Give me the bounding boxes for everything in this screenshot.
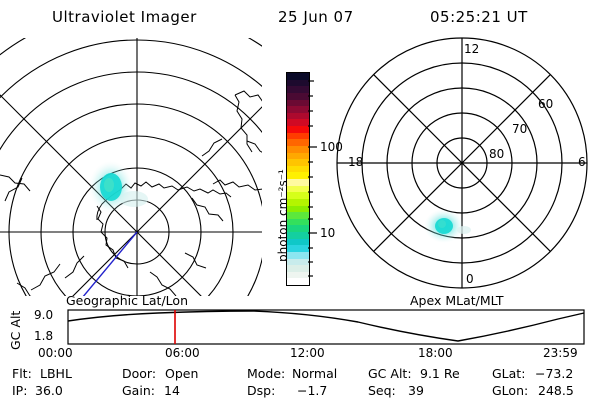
mlat-ring-label-60: 60 (538, 97, 553, 111)
colorbar-segment-1 (287, 80, 309, 87)
mlt-label-6: 6 (578, 155, 586, 169)
status-gain-label: Gain: (122, 383, 155, 398)
status-gcalt-value: 9.1 Re (420, 366, 460, 381)
colorbar-segment-9 (287, 133, 309, 140)
apex-mlt-dial-panel[interactable] (330, 38, 600, 296)
colorbar-segment-2 (287, 86, 309, 93)
mlt-spokes (337, 38, 587, 288)
left-panel-title: Geographic Lat/Lon (66, 293, 188, 308)
mlt-label-18: 18 (348, 155, 363, 169)
colorbar-segment-28 (287, 259, 309, 266)
mlt-label-12: 12 (464, 42, 479, 56)
intensity-colorbar[interactable] (286, 72, 310, 286)
colorbar-segment-19 (287, 199, 309, 206)
altitude-curve (68, 311, 584, 341)
colorbar-segment-22 (287, 219, 309, 226)
status-gain-value: 14 (164, 383, 180, 398)
colorbar-segment-17 (287, 186, 309, 193)
colorbar-segment-4 (287, 100, 309, 107)
orbit-xtick-1: 06:00 (165, 346, 200, 360)
colorbar-segment-13 (287, 159, 309, 166)
aurora-emission-left (89, 161, 148, 213)
ground-track-line (82, 232, 137, 298)
colorbar-segment-14 (287, 166, 309, 173)
orbit-xtick-2: 12:00 (290, 346, 325, 360)
colorbar-segment-26 (287, 245, 309, 252)
colorbar-segment-24 (287, 232, 309, 239)
orbit-altitude-plot[interactable] (68, 310, 584, 344)
status-ip-value: 36.0 (35, 383, 63, 398)
status-flt-label: Flt: (12, 366, 32, 381)
colorbar-segment-29 (287, 265, 309, 272)
orbit-plot-frame (68, 310, 584, 344)
colorbar-segment-10 (287, 139, 309, 146)
colorbar-segment-30 (287, 272, 309, 279)
status-glat-value: −73.2 (535, 366, 573, 381)
right-panel-title: Apex MLat/MLT (410, 293, 504, 308)
orbit-ytick-high: 9.0 (34, 308, 53, 322)
colorbar-segment-0 (287, 73, 309, 80)
orbit-xtick-0: 00:00 (38, 346, 73, 360)
mlat-ring-label-70: 70 (512, 122, 527, 136)
mlt-label-0: 0 (466, 272, 474, 286)
status-door-value: Open (165, 366, 198, 381)
orbit-y-axis-label: GC Alt (8, 311, 23, 350)
instrument-title: Ultraviolet Imager (52, 8, 197, 26)
observation-date: 25 Jun 07 (278, 8, 354, 26)
colorbar-segment-7 (287, 119, 309, 126)
colorbar-segment-5 (287, 106, 309, 113)
status-seq-label: Seq: (368, 383, 396, 398)
colorbar-segment-23 (287, 225, 309, 232)
observation-time: 05:25:21 UT (430, 8, 528, 26)
status-gcalt-label: GC Alt: (368, 366, 412, 381)
status-dsp-label: Dsp: (247, 383, 275, 398)
status-glat-label: GLat: (492, 366, 525, 381)
status-seq-value: 39 (408, 383, 424, 398)
orbit-ytick-low: 1.8 (34, 329, 53, 343)
geographic-map-panel[interactable] (0, 38, 270, 296)
colorbar-segment-16 (287, 179, 309, 186)
colorbar-segment-25 (287, 239, 309, 246)
mlat-ring-label-80: 80 (489, 147, 504, 161)
status-dsp-value: −1.7 (297, 383, 327, 398)
status-mode-value: Normal (292, 366, 337, 381)
status-glon-label: GLon: (492, 383, 528, 398)
orbit-xtick-4: 23:59 (543, 346, 578, 360)
colorbar-segment-21 (287, 212, 309, 219)
colorbar-segment-8 (287, 126, 309, 133)
colorbar-segment-31 (287, 278, 309, 285)
colorbar-segment-18 (287, 192, 309, 199)
status-mode-label: Mode: (247, 366, 285, 381)
orbit-xtick-3: 18:00 (418, 346, 453, 360)
status-door-label: Door: (122, 366, 156, 381)
status-flt-value: LBHL (40, 366, 72, 381)
colorbar-segment-27 (287, 252, 309, 259)
colorbar-segment-3 (287, 93, 309, 100)
colorbar-segment-11 (287, 146, 309, 153)
colorbar-segment-15 (287, 172, 309, 179)
status-glon-value: 248.5 (538, 383, 574, 398)
colorbar-segment-6 (287, 113, 309, 120)
colorbar-segment-20 (287, 206, 309, 213)
colorbar-segment-12 (287, 153, 309, 160)
status-ip-label: IP: (12, 383, 27, 398)
